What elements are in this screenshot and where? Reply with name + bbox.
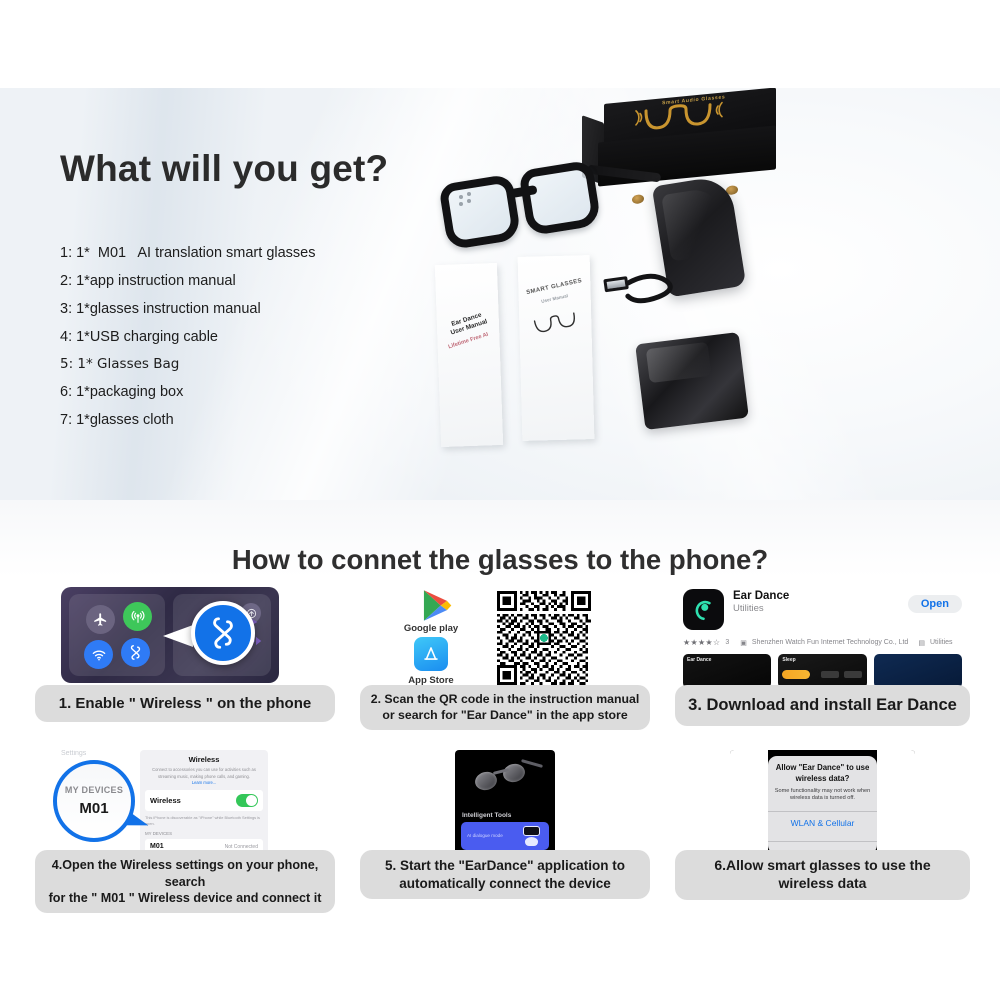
glasses-hinge-rivet bbox=[459, 195, 463, 199]
wireless-settings-panel: Wireless Connect to accessories you can … bbox=[140, 750, 268, 856]
how-to-connect-section: How to connet the glasses to the phone? bbox=[0, 500, 1000, 930]
screenshot-highlight-pill bbox=[782, 670, 810, 679]
step-1-caption: 1. Enable " Wireless " on the phone bbox=[35, 685, 335, 722]
category-icon: ▤ bbox=[918, 639, 925, 647]
usb-cable-image bbox=[602, 261, 684, 317]
google-play-label: Google play bbox=[388, 623, 474, 634]
discoverable-note: This iPhone is discoverable as "iPhone" … bbox=[145, 815, 263, 827]
step-2-caption-line1: 2. Scan the QR code in the instruction m… bbox=[371, 692, 640, 706]
step-6-caption-line2: wireless data bbox=[779, 875, 867, 891]
ai-dialogue-label: AI dialogue mode bbox=[467, 833, 503, 838]
mini-tab bbox=[821, 671, 839, 678]
list-item: 1: 1* M01 AI translation smart glasses bbox=[60, 246, 315, 261]
app-screenshots: Ear Dance Sleep bbox=[683, 654, 962, 688]
control-center-screen bbox=[61, 587, 279, 683]
screenshot-thumb[interactable]: Ear Dance bbox=[683, 654, 771, 688]
app-category: Utilities bbox=[733, 603, 789, 614]
cellular-icon[interactable] bbox=[123, 602, 152, 631]
magnifier-device-name: M01 bbox=[79, 800, 108, 817]
step-3-caption: 3. Download and install Ear Dance bbox=[675, 685, 970, 726]
glasses-instruction-manual-image: SMART GLASSES User Manual bbox=[518, 255, 595, 441]
step-5-image: Intelligent Tools AI dialogue mode bbox=[360, 750, 650, 856]
rating-count: 3 bbox=[725, 639, 729, 646]
intelligent-tools-label: Intelligent Tools bbox=[462, 812, 511, 819]
glasses-right-lens bbox=[518, 160, 601, 237]
developer-icon: ▣ bbox=[740, 639, 747, 647]
list-item: 3: 1*glasses instruction manual bbox=[60, 302, 315, 317]
developer-name: Shenzhen Watch Fun Internet Technology C… bbox=[752, 639, 908, 646]
page-title: What will you get? bbox=[60, 148, 388, 190]
alert-description: Some functionality may not work when wir… bbox=[774, 788, 871, 803]
permission-dialog-screen: Allow "Ear Dance" to use wireless data? … bbox=[675, 750, 970, 856]
step-6-caption-line1: 6.Allow smart glasses to use the bbox=[714, 857, 930, 873]
step-5-caption: 5. Start the "EarDance" application to a… bbox=[360, 850, 650, 899]
step-1-image bbox=[35, 585, 335, 691]
product-infographic-page: What will you get? 1: 1* M01 AI translat… bbox=[0, 0, 1000, 1000]
wireless-data-alert: Allow "Ear Dance" to use wireless data? … bbox=[768, 756, 877, 854]
panel-description: Connect to accessories you can use for a… bbox=[145, 767, 263, 779]
device-connection-state: Not Connected bbox=[225, 844, 258, 850]
list-item: 4: 1*USB charging cable bbox=[60, 330, 315, 345]
wireless-toggle-row[interactable]: Wireless bbox=[145, 790, 263, 811]
magnifier-pointer bbox=[163, 625, 193, 647]
robot-body bbox=[525, 837, 538, 846]
app-store-icon bbox=[414, 637, 448, 671]
wireless-toggle[interactable] bbox=[236, 794, 258, 807]
section-title: How to connet the glasses to the phone? bbox=[0, 544, 1000, 576]
list-item: 7: 1*glasses cloth bbox=[60, 413, 315, 428]
glasses-line-icon bbox=[530, 309, 581, 336]
step-2-caption-line2: or search for "Ear Dance" in the app sto… bbox=[382, 708, 627, 722]
learn-more-link[interactable]: Learn more... bbox=[145, 780, 263, 785]
step-card-3: Ear Dance Utilities Open ★★★★☆ 3 ▣ Shenz… bbox=[675, 585, 970, 730]
screenshot-label: Ear Dance bbox=[687, 657, 711, 663]
app-header-row: Ear Dance Utilities Open bbox=[683, 589, 962, 630]
screenshot-thumb[interactable]: Sleep bbox=[778, 654, 866, 688]
step-4-caption-line1: 4.Open the Wireless settings on your pho… bbox=[52, 858, 319, 888]
glasses-hinge-rivet bbox=[459, 202, 463, 206]
screenshot-thumb[interactable] bbox=[874, 654, 962, 688]
panel-title: Wireless bbox=[145, 755, 263, 764]
magnifier-section-label: MY DEVICES bbox=[65, 785, 123, 795]
step-5-caption-line1: 5. Start the "EarDance" application to bbox=[385, 858, 625, 873]
step-2-caption: 2. Scan the QR code in the instruction m… bbox=[360, 685, 650, 730]
step-4-image: Settings Wireless Connect to accessories… bbox=[35, 750, 335, 856]
step-5-caption-line2: automatically connect the device bbox=[399, 876, 611, 891]
alert-option-wlan-cellular[interactable]: WLAN & Cellular bbox=[774, 812, 871, 833]
wireless-icon-magnified bbox=[191, 601, 255, 665]
ear-dance-app-screen: Intelligent Tools AI dialogue mode bbox=[360, 750, 650, 856]
wireless-icon[interactable] bbox=[121, 638, 150, 667]
ear-dance-app-icon bbox=[683, 589, 724, 630]
wireless-icon bbox=[205, 615, 241, 651]
step-card-6: Allow "Ear Dance" to use wireless data? … bbox=[675, 750, 970, 912]
ear-logo-icon bbox=[690, 596, 717, 623]
step-4-caption-line2: for the " M01 " Wireless device and conn… bbox=[49, 891, 322, 905]
screenshot-mini-tabs bbox=[821, 671, 862, 678]
open-button[interactable]: Open bbox=[908, 595, 962, 613]
smart-glasses-image bbox=[435, 161, 643, 257]
product-photo: Smart Audio Glasses bbox=[400, 88, 1000, 500]
device-name: M01 bbox=[150, 843, 164, 850]
airplane-icon[interactable] bbox=[86, 605, 115, 634]
glasses-temple-arm bbox=[521, 759, 543, 768]
app-instruction-manual-image: Ear Dance User Manual Lifetime Free AI bbox=[435, 263, 503, 447]
screen-left-band bbox=[730, 750, 768, 856]
app-title-block: Ear Dance Utilities bbox=[733, 589, 789, 614]
step-2-image: Google play App Store bbox=[360, 585, 650, 691]
glasses-hinge-rivet bbox=[467, 192, 471, 196]
mini-tab bbox=[844, 671, 862, 678]
step-card-1: 1. Enable " Wireless " on the phone bbox=[35, 585, 335, 730]
category-tag: Utilities bbox=[930, 639, 953, 646]
list-item: 6: 1*packaging box bbox=[60, 385, 315, 400]
phone-screen: Allow "Ear Dance" to use wireless data? … bbox=[730, 750, 915, 856]
glasses-right-lens bbox=[501, 762, 527, 785]
robot-head bbox=[523, 826, 540, 836]
step-6-caption: 6.Allow smart glasses to use the wireles… bbox=[675, 850, 970, 900]
glasses-left-lens bbox=[438, 174, 521, 251]
connectivity-pane bbox=[69, 594, 165, 676]
glasses-render-image bbox=[473, 762, 539, 792]
rating-stars: ★★★★☆ bbox=[683, 638, 720, 647]
list-item: 2: 1*app instruction manual bbox=[60, 274, 315, 289]
step-6-image: Allow "Ear Dance" to use wireless data? … bbox=[675, 750, 970, 856]
ai-dialogue-panel[interactable]: AI dialogue mode bbox=[461, 822, 549, 850]
steps-grid: 1. Enable " Wireless " on the phone Goog… bbox=[35, 585, 970, 913]
included-items-list: 1: 1* M01 AI translation smart glasses 2… bbox=[60, 246, 315, 441]
list-item: 5: 1* Glasses Bag bbox=[60, 358, 315, 372]
app-name: Ear Dance bbox=[733, 589, 789, 603]
wifi-icon[interactable] bbox=[84, 640, 113, 669]
phone-screen: Intelligent Tools AI dialogue mode bbox=[455, 750, 555, 856]
alert-title: Allow "Ear Dance" to use wireless data? bbox=[774, 763, 871, 783]
settings-breadcrumb: Settings bbox=[61, 750, 86, 757]
glasses-cloth-image bbox=[635, 332, 749, 430]
store-badges-and-qr: Google play App Store bbox=[360, 585, 650, 691]
robot-icon bbox=[522, 826, 541, 846]
google-play-icon bbox=[422, 589, 452, 622]
screenshot-label: Sleep bbox=[782, 657, 795, 663]
qr-code-icon bbox=[497, 591, 591, 685]
app-rating-row: ★★★★☆ 3 ▣ Shenzhen Watch Fun Internet Te… bbox=[683, 638, 962, 647]
step-4-caption: 4.Open the Wireless settings on your pho… bbox=[35, 850, 335, 912]
wireless-settings-screen: Settings Wireless Connect to accessories… bbox=[35, 750, 335, 856]
step-3-image: Ear Dance Utilities Open ★★★★☆ 3 ▣ Shenz… bbox=[675, 585, 970, 691]
my-devices-section-label: MY DEVICES bbox=[145, 831, 263, 836]
wireless-toggle-label: Wireless bbox=[150, 796, 181, 805]
step-card-4: Settings Wireless Connect to accessories… bbox=[35, 750, 335, 912]
cable-cord bbox=[602, 261, 684, 317]
step-card-5: Intelligent Tools AI dialogue mode bbox=[360, 750, 650, 912]
screen-right-band bbox=[877, 750, 915, 856]
what-you-get-section: What will you get? 1: 1* M01 AI translat… bbox=[0, 88, 1000, 500]
app-store-listing: Ear Dance Utilities Open ★★★★☆ 3 ▣ Shenz… bbox=[675, 585, 970, 691]
step-card-2: Google play App Store bbox=[360, 585, 650, 730]
glasses-hinge-rivet bbox=[467, 199, 471, 203]
device-magnifier: MY DEVICES M01 bbox=[53, 760, 135, 842]
